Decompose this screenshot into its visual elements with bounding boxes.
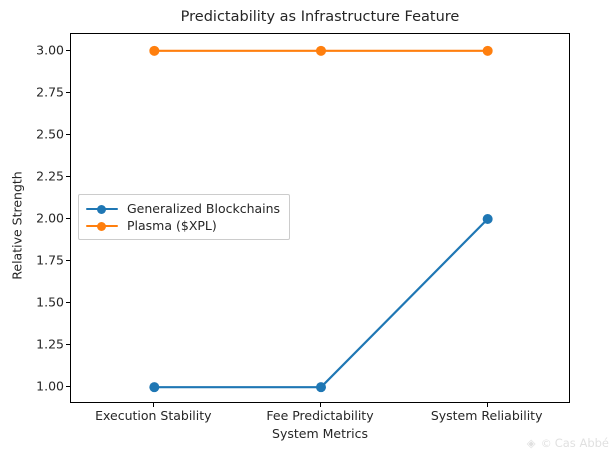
x-tick-label: System Reliability: [387, 408, 587, 423]
data-series: [149, 46, 492, 56]
y-tick-label: 2.50: [20, 126, 64, 141]
watermark-text: Cas Abbé: [555, 436, 609, 450]
chart-title: Predictability as Infrastructure Feature: [70, 8, 570, 26]
data-point-marker: [483, 46, 493, 56]
legend-marker-icon: [86, 203, 118, 215]
data-point-marker: [316, 46, 326, 56]
diamond-icon: ◈: [527, 438, 538, 449]
legend-label: Generalized Blockchains: [127, 201, 280, 216]
legend-item[interactable]: Generalized Blockchains: [86, 200, 280, 217]
watermark: ◈ © Cas Abbé: [527, 436, 609, 450]
legend-marker-icon: [86, 220, 118, 232]
legend-label: Plasma ($XPL): [127, 218, 217, 233]
data-point-marker: [316, 382, 326, 392]
y-tick-label: 2.00: [20, 211, 64, 226]
legend-item[interactable]: Plasma ($XPL): [86, 217, 280, 234]
series-line: [154, 219, 487, 387]
data-point-marker: [149, 382, 159, 392]
y-tick-label: 3.00: [20, 42, 64, 57]
x-tick-mark: [153, 403, 154, 407]
y-tick-label: 2.75: [20, 84, 64, 99]
y-tick-label: 1.75: [20, 253, 64, 268]
x-tick-mark: [487, 403, 488, 407]
data-point-marker: [149, 46, 159, 56]
y-tick-label: 1.25: [20, 337, 64, 352]
data-point-marker: [483, 214, 493, 224]
chart-legend: Generalized BlockchainsPlasma ($XPL): [78, 194, 290, 240]
y-tick-label: 1.00: [20, 379, 64, 394]
y-tick-label: 1.50: [20, 295, 64, 310]
y-tick-label: 2.25: [20, 168, 64, 183]
data-series: [149, 214, 492, 392]
y-axis-tick-labels: 1.001.251.501.752.002.252.502.753.00: [14, 33, 64, 403]
chart-figure: Predictability as Infrastructure Feature…: [0, 0, 615, 455]
x-axis-label: System Metrics: [70, 426, 570, 441]
copyright-icon: ©: [541, 437, 552, 450]
x-tick-mark: [320, 403, 321, 407]
